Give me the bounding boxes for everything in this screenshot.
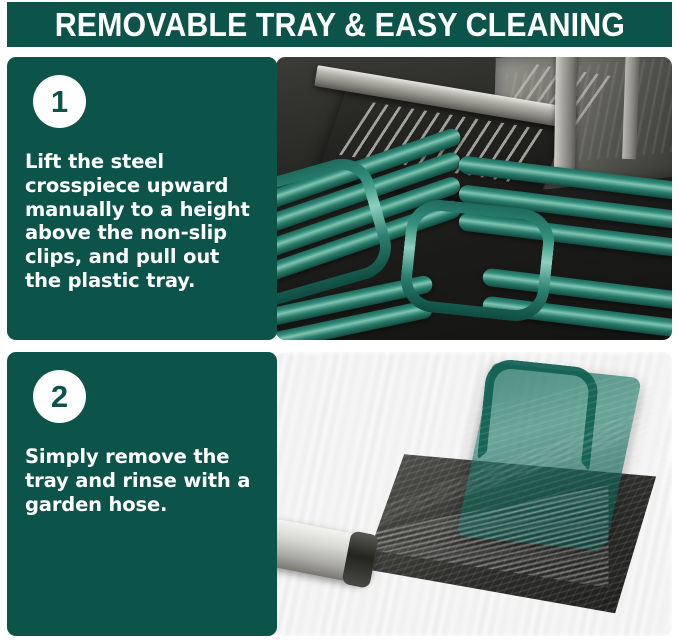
step-2-instruction-text: Simply remove the tray and rinse with a … (25, 445, 261, 516)
step-row-2: 2 Simply remove the tray and rinse with … (7, 352, 672, 636)
step-row-1: 1 Lift the steel crosspiece upward manua… (7, 57, 672, 340)
step-1-instruction-text: Lift the steel crosspiece upward manuall… (25, 150, 261, 293)
step-1-text-card: 1 Lift the steel crosspiece upward manua… (7, 57, 277, 340)
page-title: REMOVABLE TRAY & EASY CLEANING (54, 8, 624, 41)
step-1-photo (276, 57, 672, 340)
step-1-photo-frame (276, 57, 672, 340)
step-2-photo (276, 352, 672, 636)
step-1-number-badge: 1 (33, 75, 86, 128)
step-2-number-badge: 2 (33, 370, 86, 423)
step-2-text-card: 2 Simply remove the tray and rinse with … (7, 352, 277, 636)
green-tray-handle-center (397, 197, 557, 324)
steel-vertical-post (554, 57, 577, 176)
step-2-photo-frame (276, 352, 672, 636)
header-banner: REMOVABLE TRAY & EASY CLEANING (7, 2, 672, 47)
product-feature-page: REMOVABLE TRAY & EASY CLEANING 1 Lift th… (0, 0, 679, 640)
